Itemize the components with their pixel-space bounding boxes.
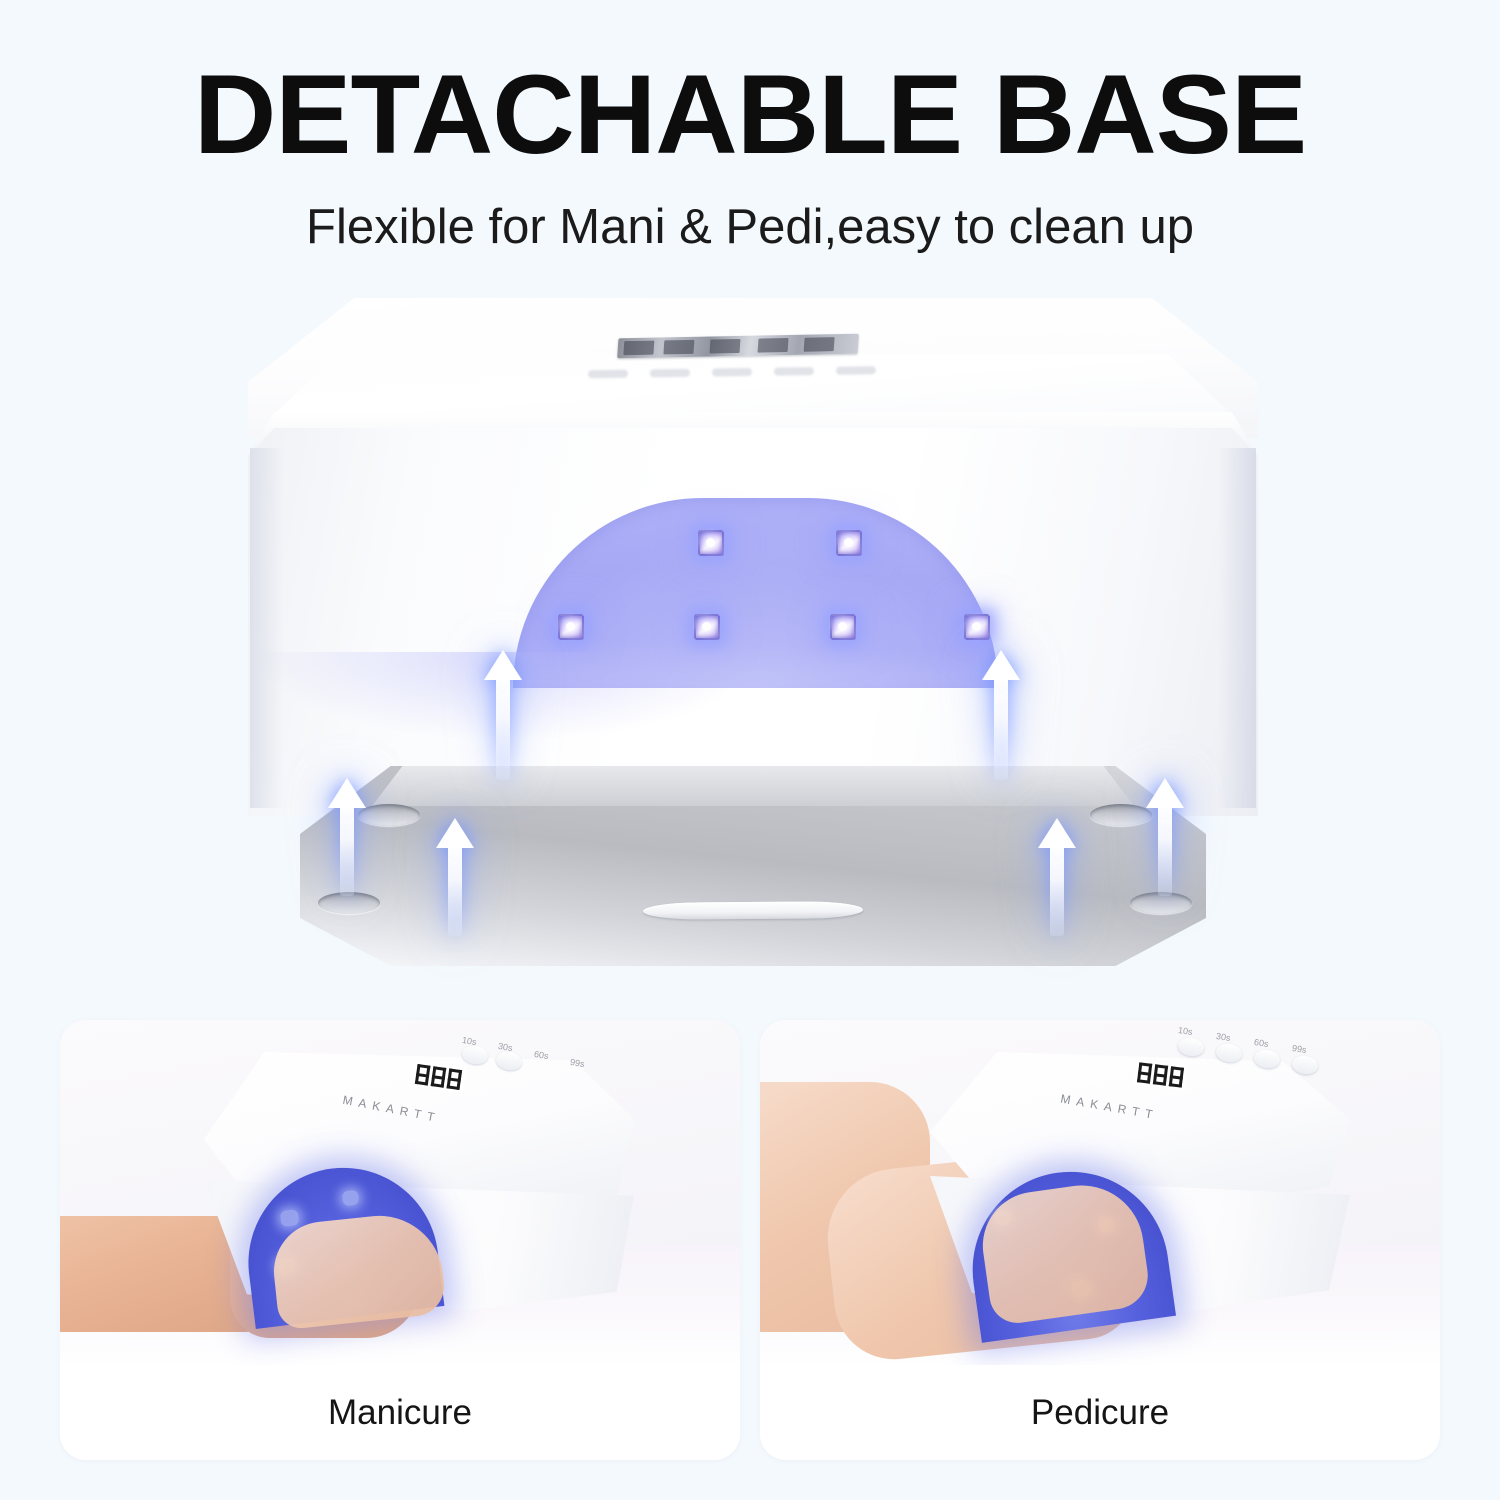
base-foot-peg (1090, 804, 1152, 826)
detach-arrow-up (328, 778, 366, 896)
hero-illustration (0, 270, 1500, 1000)
timer-button-label: 30s (1215, 1031, 1231, 1043)
lamp-right-highlight (1218, 448, 1256, 808)
detach-arrow-up (436, 818, 474, 936)
page-title: DETACHABLE BASE (0, 56, 1500, 174)
mini-lamp-pedicure: MAKARTT 10s 30s 60s 99s (910, 1036, 1380, 1346)
uv-led-bead (964, 614, 990, 640)
usage-card-pedicure[interactable]: MAKARTT 10s 30s 60s 99s Pedicure (760, 1020, 1440, 1460)
card-caption-manicure: Manicure (60, 1365, 740, 1460)
lamp-left-highlight (250, 448, 284, 808)
timer-button-label: 60s (533, 1049, 549, 1061)
detach-arrow-up (1038, 818, 1076, 936)
usage-card-manicure[interactable]: MAKARTT 10s 30s 60s 99s Manicure (60, 1020, 740, 1460)
product-feature-banner: DETACHABLE BASE Flexible for Mani & Pedi… (0, 0, 1500, 1500)
uv-led-bead (830, 614, 856, 640)
page-subtitle: Flexible for Mani & Pedi,easy to clean u… (0, 198, 1500, 257)
timer-button (1177, 1036, 1205, 1058)
base-release-slot (643, 901, 863, 920)
uv-led-bead (698, 530, 724, 556)
mini-lamp-manicure: MAKARTT 10s 30s 60s 99s (190, 1040, 650, 1340)
timer-button-label: 10s (1177, 1025, 1193, 1037)
manicure-photo: MAKARTT 10s 30s 60s 99s (60, 1020, 740, 1365)
detach-arrow-up (982, 650, 1020, 780)
timer-button-label: 10s (461, 1035, 477, 1047)
pedicure-photo: MAKARTT 10s 30s 60s 99s (760, 1020, 1440, 1365)
detach-arrow-up (484, 650, 522, 780)
base-foot-peg (358, 804, 420, 826)
uv-led-bead (836, 530, 862, 556)
card-caption-pedicure: Pedicure (760, 1365, 1440, 1460)
usage-cards: MAKARTT 10s 30s 60s 99s Manicure (0, 1020, 1500, 1460)
timer-button-label: 99s (1291, 1043, 1307, 1055)
detach-arrow-up (1146, 778, 1184, 896)
timer-button-label: 60s (1253, 1037, 1269, 1049)
uv-led-bead (694, 614, 720, 640)
uv-led-bead (558, 614, 584, 640)
timer-button-label: 30s (497, 1041, 513, 1053)
